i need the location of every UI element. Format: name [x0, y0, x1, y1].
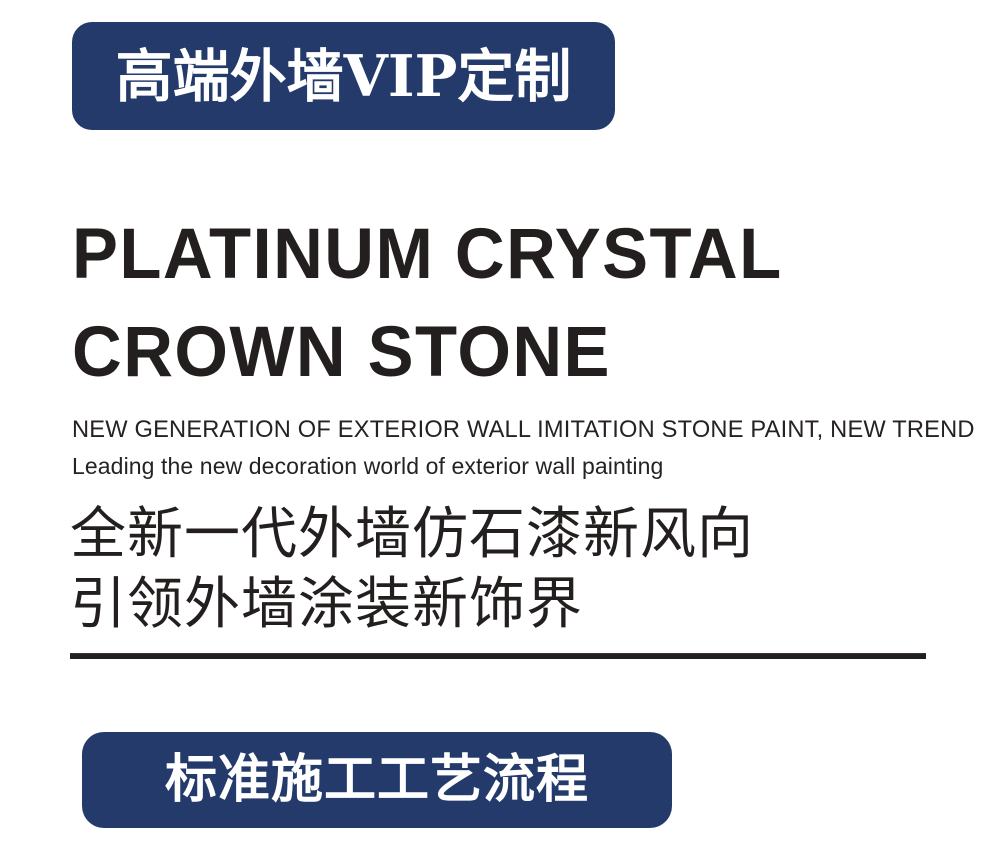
chinese-headline: 全新一代外墙仿石漆新风向 引领外墙涂装新饰界 [70, 500, 960, 640]
top-vip-badge: 高端外墙VIP定制 [72, 22, 615, 130]
main-title: PLATINUM CRYSTAL CROWN STONE [72, 206, 952, 402]
english-subtitle-line-1: NEW GENERATION OF EXTERIOR WALL IMITATIO… [72, 413, 949, 447]
english-subtitle-line-2: Leading the new decoration world of exte… [72, 447, 962, 485]
section-divider [70, 653, 926, 659]
main-title-line-2: CROWN STONE [72, 304, 926, 402]
main-title-line-1: PLATINUM CRYSTAL [72, 206, 926, 304]
english-subtitle: NEW GENERATION OF EXTERIOR WALL IMITATIO… [72, 413, 962, 485]
poster-canvas: 高端外墙VIP定制 PLATINUM CRYSTAL CROWN STONE N… [0, 0, 1000, 855]
chinese-headline-line-2: 引领外墙涂装新饰界 [70, 570, 960, 640]
chinese-headline-line-1: 全新一代外墙仿石漆新风向 [70, 500, 960, 570]
bottom-process-badge: 标准施工工艺流程 [82, 732, 672, 828]
top-vip-badge-label: 高端外墙VIP定制 [116, 48, 572, 105]
bottom-process-badge-label: 标准施工工艺流程 [165, 754, 589, 806]
